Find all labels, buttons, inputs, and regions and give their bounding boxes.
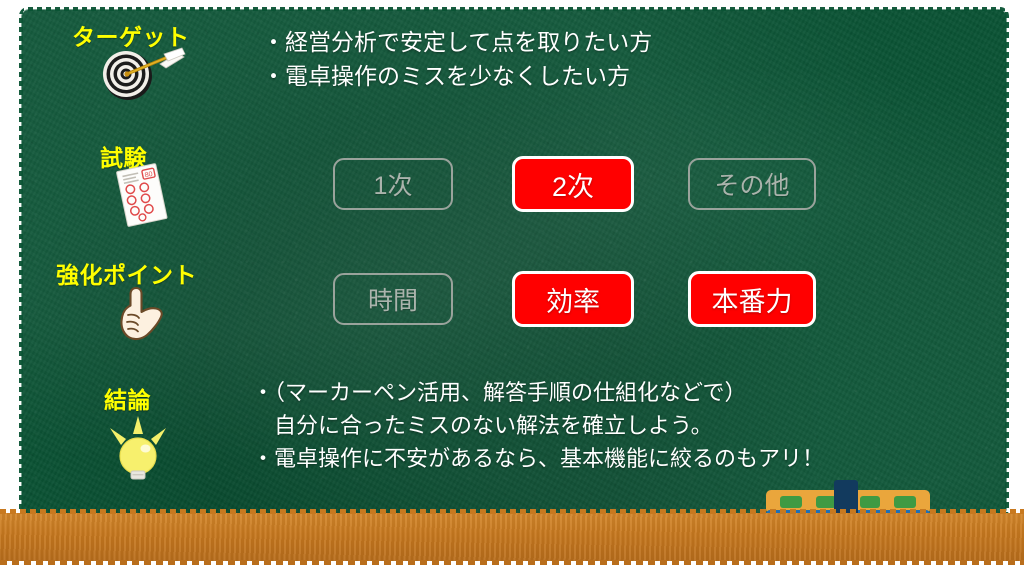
chip-focus-efficiency[interactable]: 効率 xyxy=(512,271,634,327)
chip-focus-time[interactable]: 時間 xyxy=(333,273,453,325)
chip-focus-performance[interactable]: 本番力 xyxy=(688,271,816,327)
chip-exam-2[interactable]: 2次 xyxy=(512,156,634,212)
conclusion-line-3: ・電卓操作に不安があるなら、基本機能に絞るのもアリ！ xyxy=(252,443,824,474)
pointing-hand-icon xyxy=(112,282,170,344)
conclusion-line-2: 自分に合ったミスのない解法を確立しよう。 xyxy=(252,410,713,441)
section-label-conclusion: 結論 xyxy=(104,381,151,415)
conclusion-line-1: ・（マーカーペン活用、解答手順の仕組化などで） xyxy=(252,377,747,408)
lightbulb-idea-icon xyxy=(98,412,180,484)
chalk-ledge xyxy=(0,513,1024,561)
target-line-1: ・経営分析で安定して点を取りたい方 xyxy=(262,26,652,59)
chip-exam-1[interactable]: 1次 xyxy=(333,158,453,210)
chip-exam-other[interactable]: その他 xyxy=(688,158,816,210)
slide-canvas: ターゲット ・経営分析で安定して点を取りたい方 ・電卓操作のミスを少なくしたい方… xyxy=(0,0,1024,576)
target-line-2: ・電卓操作のミスを少なくしたい方 xyxy=(262,60,630,93)
marked-test-paper-icon: 80 xyxy=(104,163,180,229)
dartboard-with-arrow-icon xyxy=(98,45,190,101)
